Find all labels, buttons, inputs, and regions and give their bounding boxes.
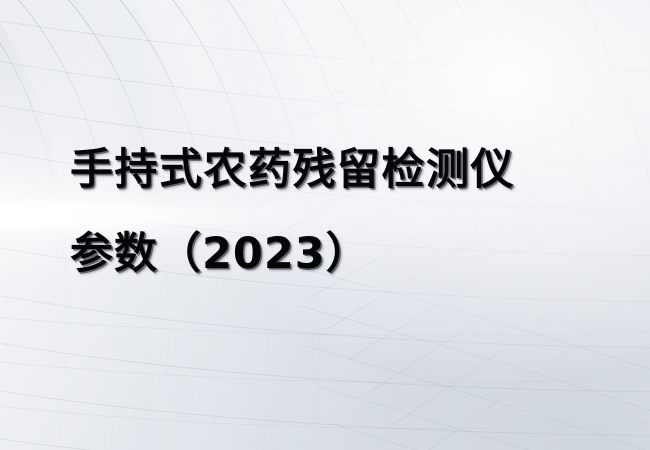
banner-title: 手持式农药残留检测仪 参数（2023）	[70, 128, 590, 296]
title-line-1: 手持式农药残留检测仪	[70, 128, 590, 212]
title-line-2: 参数（2023）	[70, 212, 590, 296]
title-banner: 手持式农药残留检测仪 参数（2023）	[0, 0, 650, 450]
